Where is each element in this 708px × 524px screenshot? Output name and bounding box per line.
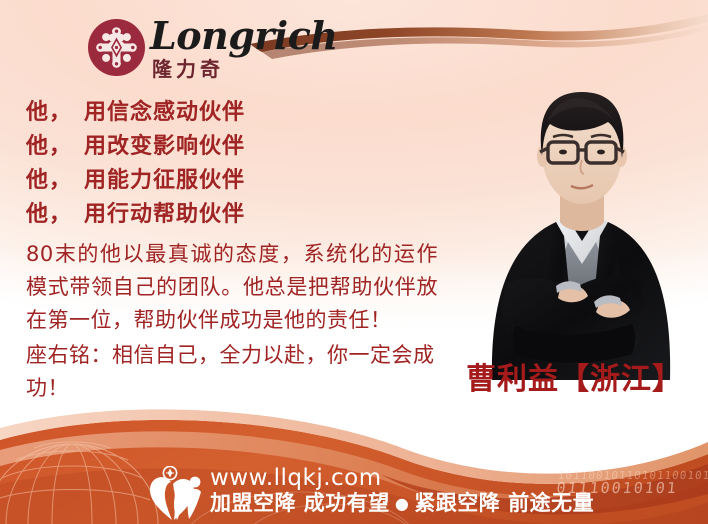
slogan-subject-3: 他， (26, 168, 72, 193)
slogan-text-1: 用信念感动伙伴 (84, 100, 245, 125)
footer-slogan: 加盟空降 成功有望●紧跟空降 前途无量 (210, 491, 594, 516)
logo-wordmark: Longrich (150, 16, 337, 56)
poster-canvas: Longrich 隆力奇 (0, 0, 708, 524)
slogan-subject-4: 他， (26, 202, 72, 227)
footer-slogan-left: 加盟空降 成功有望 (210, 491, 390, 515)
biography-paragraph: 80末的他以最真诚的态度，系统化的运作模式带领自己的团队。他总是把帮助伙伴放在第… (26, 238, 438, 337)
brand-logo: Longrich 隆力奇 (88, 18, 338, 84)
slogan-text-3: 用能力征服伙伴 (84, 168, 245, 193)
person-nameplate: 曹利益【浙江】 (466, 362, 683, 398)
longrich-emblem-icon (88, 19, 145, 76)
slogan-line-4: 他，用行动帮助伙伴 (26, 198, 438, 232)
slogan-text-2: 用改变影响伙伴 (84, 134, 245, 159)
logo-chinese-name: 隆力奇 (152, 58, 224, 80)
slogan-subject-1: 他， (26, 100, 72, 125)
longrich-small-emblem-icon (163, 466, 176, 479)
heart-family-logo-icon (148, 466, 214, 522)
slogan-subject-2: 他， (26, 134, 72, 159)
binary-code-texture: 1011001011010110010110101101001011 01110… (554, 470, 708, 516)
footer-slogan-separator: ● (390, 492, 414, 516)
person-portrait-photo (440, 36, 708, 380)
motto-text: 座右铭：相信自己，全力以赴，你一定会成功！ (26, 339, 438, 405)
slogan-line-2: 他，用改变影响伙伴 (26, 130, 438, 164)
slogan-line-3: 他，用能力征服伙伴 (26, 164, 438, 198)
slogan-text-4: 用行动帮助伙伴 (84, 202, 245, 227)
copy-block: 他，用信念感动伙伴 他，用改变影响伙伴 他，用能力征服伙伴 他，用行动帮助伙伴 … (26, 96, 438, 405)
slogan-line-1: 他，用信念感动伙伴 (26, 96, 438, 130)
binary-row-2: 01110010101 (556, 482, 707, 494)
footer-website-url[interactable]: www.llqkj.com (210, 466, 382, 491)
